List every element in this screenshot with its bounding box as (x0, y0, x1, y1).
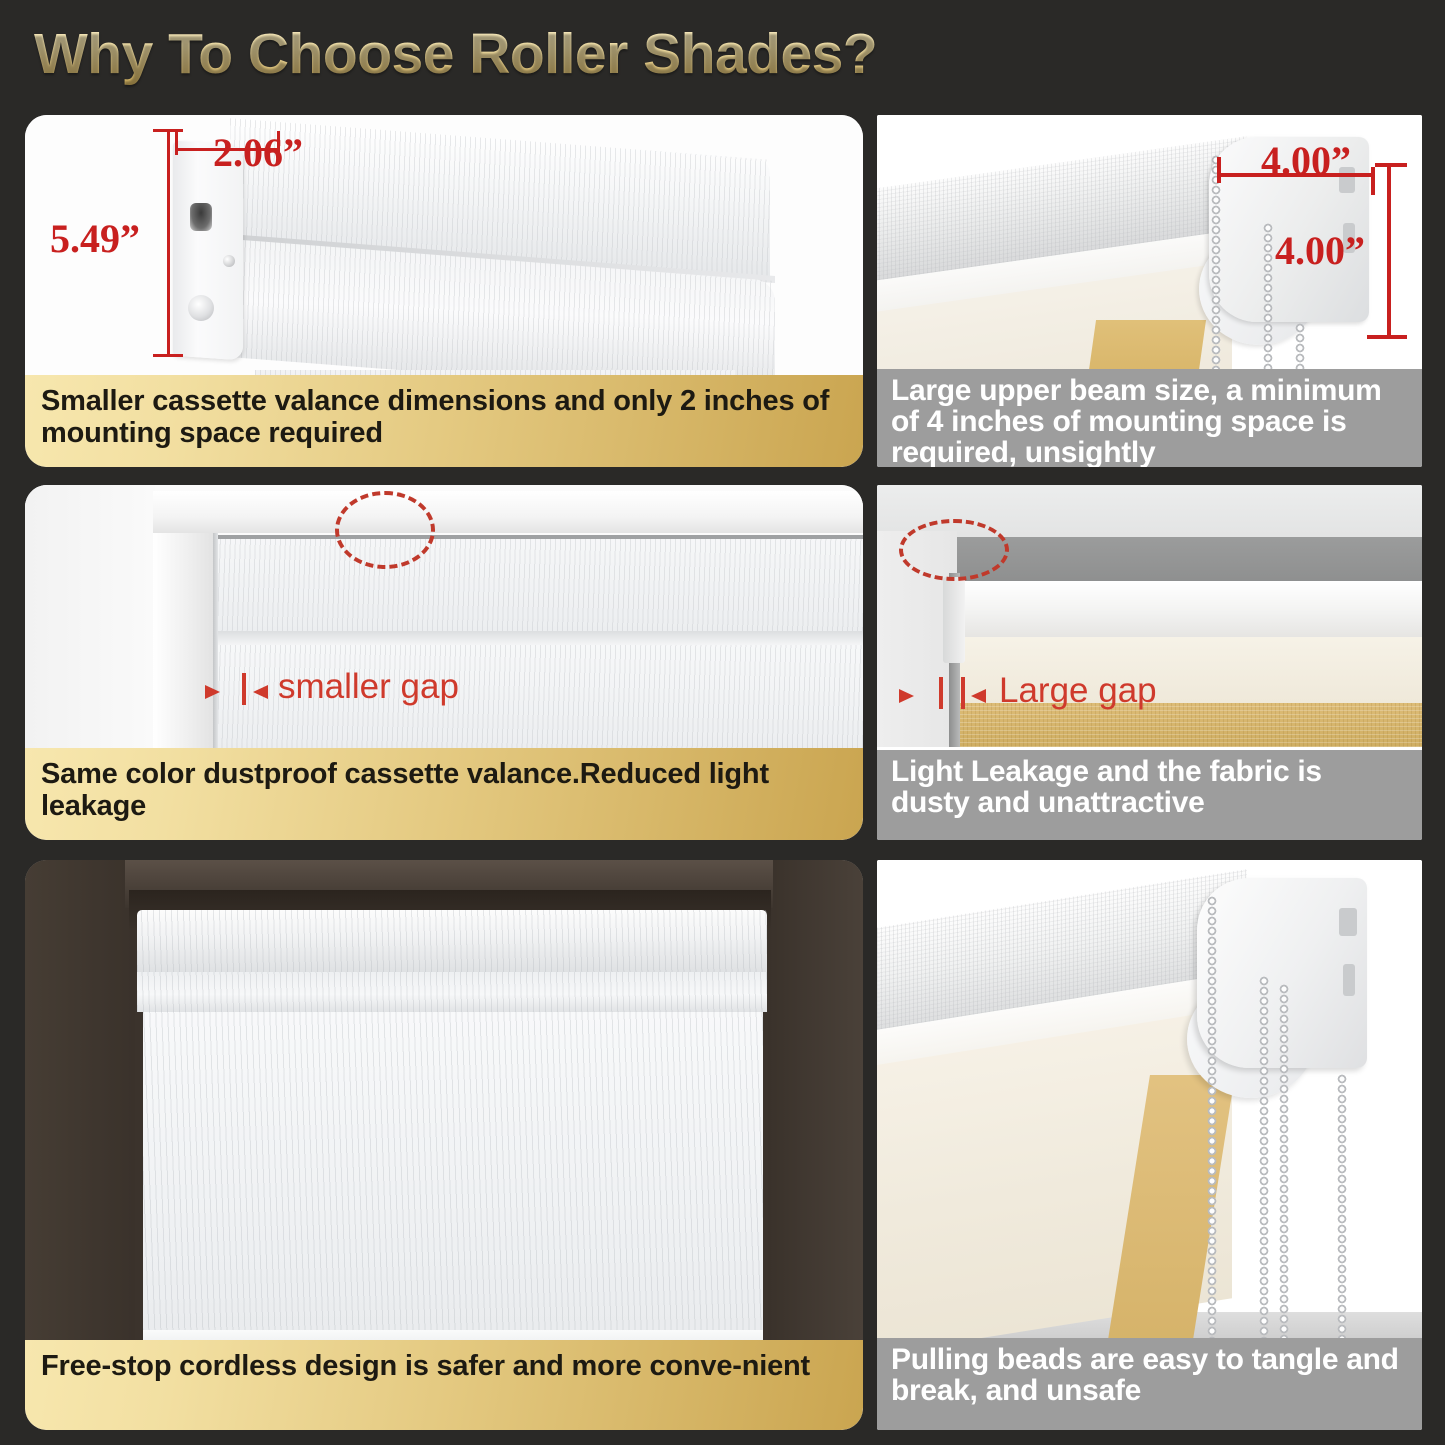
height-tick-top (153, 129, 183, 132)
gap-arrow-right-icon (253, 685, 268, 699)
shade-upper-section (215, 537, 863, 633)
wall-left (25, 860, 135, 1340)
panel-large-beam: 4.00” 4.00” Large upper beam size, a min… (877, 115, 1422, 467)
window-frame-horizontal (153, 491, 863, 533)
bead-chain-middle-2 (1279, 984, 1289, 1338)
gap-bar (242, 673, 246, 705)
beam-height-tick-bottom (1367, 335, 1407, 339)
roller-tube (955, 581, 1422, 643)
highlight-circle-icon (335, 491, 435, 569)
wall-right (768, 860, 863, 1340)
beam-width-tick-left (1217, 157, 1221, 183)
panel-4-caption-text: Light Leakage and the fabric is dusty an… (877, 750, 1422, 818)
panel-1-caption-text: Smaller cassette valance dimensions and … (25, 375, 863, 450)
valance-texture (137, 968, 767, 1012)
end-cap-knob (188, 295, 214, 321)
panel-smaller-cassette: 2.06” 5.49” Smaller cassette valance dim… (25, 115, 863, 467)
shadow-band (955, 537, 1422, 583)
panel-4-caption-bar: Light Leakage and the fabric is dusty an… (877, 750, 1422, 840)
panel-1-caption-bar: Smaller cassette valance dimensions and … (25, 375, 863, 467)
shade-texture (215, 537, 863, 633)
highlight-circle-icon (899, 519, 1009, 581)
bead-chain-right (1337, 1074, 1347, 1338)
panel-3-caption-text: Same color dustproof cassette valance.Re… (25, 748, 863, 823)
width-dimension-label: 2.06” (213, 129, 303, 176)
shade-fabric (143, 1010, 763, 1340)
beam-width-label: 4.00” (1261, 137, 1351, 184)
panel-smaller-gap: smaller gap Same color dustproof cassett… (25, 485, 863, 840)
panel-6-caption-text: Pulling beads are easy to tangle and bre… (877, 1338, 1422, 1406)
height-tick-bottom (153, 354, 183, 357)
end-cap-screw (223, 255, 235, 267)
shade-top-edge (215, 535, 863, 539)
shade-texture (143, 1010, 763, 1340)
panel-5-photo (25, 860, 863, 1340)
bracket-slot-lower (1343, 964, 1355, 996)
gap-bar-left (939, 677, 943, 709)
panel-3-photo: smaller gap (25, 485, 863, 751)
wall (25, 485, 155, 751)
panel-5-caption-bar: Free-stop cordless design is safer and m… (25, 1340, 863, 1430)
bead-chain-middle (1259, 976, 1269, 1338)
height-dimension-label: 5.49” (50, 215, 140, 262)
bead-chain-middle (1263, 223, 1273, 377)
panel-2-photo: 4.00” 4.00” (877, 115, 1422, 377)
infographic-root: Why To Choose Roller Shades? 2.06” (0, 0, 1445, 1445)
valance-texture (137, 910, 767, 972)
gap-arrow-right-icon (971, 689, 986, 703)
gap-bar-right (961, 677, 965, 709)
beam-height-tick-top (1375, 163, 1407, 167)
gap-label: smaller gap (278, 667, 459, 707)
page-title: Why To Choose Roller Shades? (34, 18, 1134, 90)
panel-1-photo: 2.06” 5.49” (25, 115, 863, 380)
bracket-slot-upper (1339, 908, 1357, 936)
panel-4-photo: Large gap (877, 485, 1422, 747)
panel-cordless-design: Free-stop cordless design is safer and m… (25, 860, 863, 1430)
panel-6-photo (877, 860, 1422, 1338)
valance-lower (137, 968, 767, 1012)
beam-height-line (1387, 163, 1391, 339)
gap-arrow-left-icon (205, 685, 220, 699)
panel-light-leakage: Large gap Light Leakage and the fabric i… (877, 485, 1422, 840)
gap-arrow-left-icon (899, 689, 914, 703)
panel-6-caption-bar: Pulling beads are easy to tangle and bre… (877, 1338, 1422, 1430)
height-dimension-line (167, 129, 170, 357)
beam-width-tick-right (1371, 167, 1375, 195)
bead-chain-left (1211, 155, 1221, 377)
shade-bottom-rail (143, 1330, 763, 1340)
end-cap-slot (190, 203, 212, 231)
panel-2-caption-text: Large upper beam size, a minimum of 4 in… (877, 369, 1422, 467)
width-tick-left (175, 131, 178, 155)
panel-pulling-beads: Pulling beads are easy to tangle and bre… (877, 860, 1422, 1430)
panel-3-caption-bar: Same color dustproof cassette valance.Re… (25, 748, 863, 840)
beam-height-label: 4.00” (1275, 227, 1365, 274)
bead-chain-left (1207, 896, 1217, 1338)
gap-label: Large gap (999, 671, 1157, 711)
panel-2-caption-bar: Large upper beam size, a minimum of 4 in… (877, 369, 1422, 467)
cassette-valance (137, 910, 767, 972)
shade-mid-rail (215, 631, 863, 645)
mounting-clip (943, 577, 965, 663)
panel-5-caption-text: Free-stop cordless design is safer and m… (25, 1340, 826, 1382)
